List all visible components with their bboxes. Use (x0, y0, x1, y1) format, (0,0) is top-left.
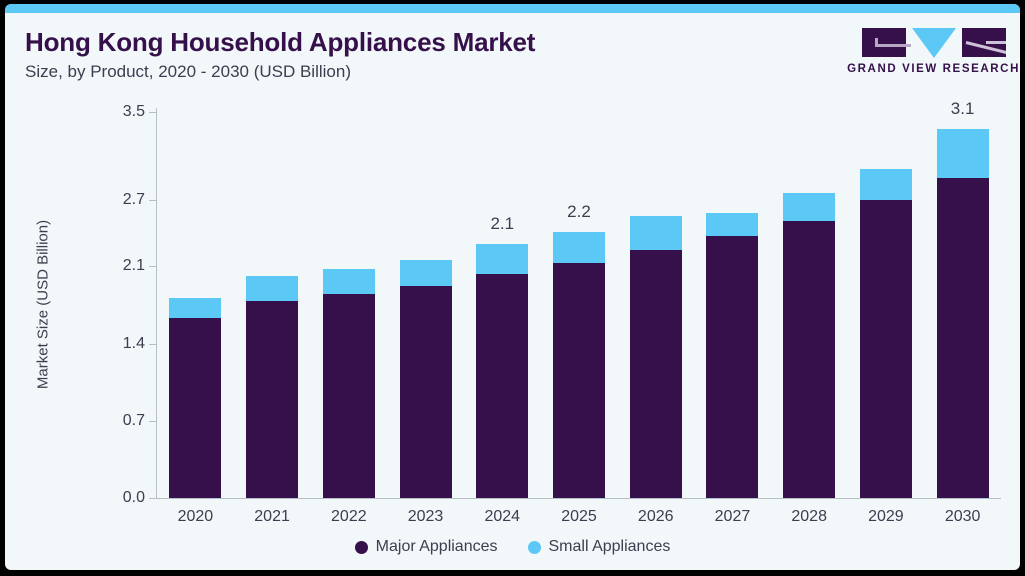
y-axis-tick-mark (149, 112, 156, 113)
bar-segment-small-appliances[interactable] (553, 232, 605, 263)
x-axis-tick-label-2024: 2024 (464, 508, 540, 526)
y-axis-tick-label: 1.4 (89, 335, 145, 353)
screenshot-frame: Hong Kong Household Appliances Market Si… (0, 0, 1025, 576)
y-axis-tick-mark (149, 344, 156, 345)
bar-segment-small-appliances[interactable] (783, 193, 835, 222)
legend-swatch-icon (528, 541, 541, 554)
bar-segment-small-appliances[interactable] (706, 213, 758, 235)
y-axis-tick-label: 0.0 (89, 489, 145, 507)
x-axis-line (156, 498, 1001, 499)
bar-group-2029[interactable] (860, 169, 912, 498)
bar-group-2020[interactable] (169, 298, 221, 498)
bar-segment-major-appliances[interactable] (169, 318, 221, 498)
bar-group-2021[interactable] (246, 276, 298, 498)
legend-item-label: Small Appliances (549, 538, 671, 556)
chart-plot-area: Market Size (USD Billion) 0.00.71.42.12.… (5, 4, 1020, 568)
bar-segment-small-appliances[interactable] (630, 216, 682, 250)
bar-segment-major-appliances[interactable] (860, 200, 912, 498)
y-axis-tick-mark (149, 498, 156, 499)
bar-segment-small-appliances[interactable] (476, 244, 528, 274)
bar-segment-major-appliances[interactable] (476, 274, 528, 498)
bar-segment-major-appliances[interactable] (783, 221, 835, 498)
y-axis-tick-mark (149, 421, 156, 422)
bar-segment-major-appliances[interactable] (323, 294, 375, 498)
bar-value-label-2024: 2.1 (462, 214, 542, 234)
legend-item[interactable]: Major Appliances (355, 538, 498, 556)
x-axis-tick-label-2025: 2025 (541, 508, 617, 526)
x-axis-tick-label-2029: 2029 (848, 508, 924, 526)
y-axis-tick-label: 2.1 (89, 257, 145, 275)
y-axis-title: Market Size (USD Billion) (35, 155, 52, 455)
bar-group-2025[interactable] (553, 232, 605, 498)
x-axis-tick-label-2027: 2027 (694, 508, 770, 526)
bar-segment-major-appliances[interactable] (553, 263, 605, 498)
x-axis-tick-label-2021: 2021 (234, 508, 310, 526)
y-axis-tick-mark (149, 266, 156, 267)
bar-group-2024[interactable] (476, 244, 528, 498)
x-axis-tick-label-2026: 2026 (618, 508, 694, 526)
y-axis-tick-mark (149, 200, 156, 201)
bar-group-2030[interactable] (937, 129, 989, 498)
bar-segment-major-appliances[interactable] (706, 236, 758, 498)
bar-group-2022[interactable] (323, 269, 375, 498)
bar-group-2027[interactable] (706, 213, 758, 498)
bar-segment-small-appliances[interactable] (937, 129, 989, 179)
x-axis-tick-label-2028: 2028 (771, 508, 847, 526)
y-axis-tick-label: 3.5 (89, 103, 145, 121)
y-axis-line (156, 108, 157, 498)
bar-segment-major-appliances[interactable] (400, 286, 452, 498)
bar-group-2023[interactable] (400, 260, 452, 498)
chart-legend: Major AppliancesSmall Appliances (5, 538, 1020, 556)
legend-item-label: Major Appliances (376, 538, 498, 556)
bar-group-2026[interactable] (630, 216, 682, 498)
bar-segment-small-appliances[interactable] (169, 298, 221, 318)
bar-segment-major-appliances[interactable] (630, 250, 682, 498)
x-axis-tick-label-2020: 2020 (157, 508, 233, 526)
x-axis-tick-label-2023: 2023 (388, 508, 464, 526)
x-axis-tick-label-2022: 2022 (311, 508, 387, 526)
bar-segment-major-appliances[interactable] (246, 301, 298, 498)
bar-segment-small-appliances[interactable] (860, 169, 912, 200)
bar-value-label-2030: 3.1 (923, 99, 1003, 119)
x-axis-tick-label-2030: 2030 (925, 508, 1001, 526)
bar-value-label-2025: 2.2 (539, 202, 619, 222)
y-axis-tick-label: 2.7 (89, 191, 145, 209)
bar-segment-major-appliances[interactable] (937, 178, 989, 498)
bar-segment-small-appliances[interactable] (246, 276, 298, 300)
bar-segment-small-appliances[interactable] (323, 269, 375, 294)
y-axis-tick-label: 0.7 (89, 412, 145, 430)
legend-item[interactable]: Small Appliances (528, 538, 671, 556)
bar-segment-small-appliances[interactable] (400, 260, 452, 286)
bar-group-2028[interactable] (783, 193, 835, 498)
chart-card: Hong Kong Household Appliances Market Si… (5, 4, 1020, 570)
legend-swatch-icon (355, 541, 368, 554)
